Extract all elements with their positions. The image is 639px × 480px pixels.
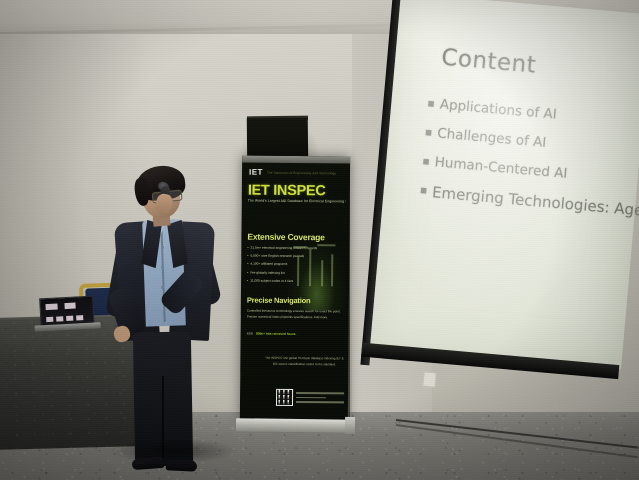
slide-bullet-3-label: Human-Centered AI [434, 154, 568, 182]
shirt-button [161, 246, 164, 249]
list-bullet-icon: ▪ [247, 270, 248, 274]
footer-line [296, 401, 344, 403]
wall-socket [422, 371, 436, 387]
bullet-dot-icon: ▪ [427, 95, 436, 112]
banner-logo: IET The Institution of Engineering and T… [248, 168, 336, 178]
slide-bullet-list: ▪ Applications of AI ▪ Challenges of AI … [418, 95, 639, 233]
footer-line [296, 392, 344, 394]
screen-window [76, 315, 83, 320]
presenter-floor-shadow [108, 438, 238, 464]
artwork-element [331, 254, 333, 286]
qr-code-pattern [277, 390, 292, 405]
banner-stat-value: 800k+ hits retrieved hours [256, 332, 296, 336]
slide-bullet-4-label: Emerging Technologies: Agentic AI [431, 183, 639, 224]
iet-logo-mark: IET [248, 168, 264, 177]
screen-window [45, 303, 57, 310]
banner-title: IET INSPEC [248, 183, 326, 200]
list-bullet-icon: ▪ [247, 246, 248, 250]
banner-list-item: ▪ 21.5m+ electrical engineering research… [247, 246, 319, 251]
projection-screen: Content ▪ Applications of AI ▪ Challenge… [360, 0, 639, 397]
slide-bullet-1-label: Applications of AI [439, 97, 557, 123]
banner-list-item-label: 21.5m+ electrical engineering research r… [251, 246, 318, 251]
list-bullet-icon: ▪ [247, 254, 248, 258]
banner-section-2-heading: Precise Navigation [247, 296, 311, 306]
banner-section-2-paragraph: Controlled thesaurus terminology ensures… [247, 309, 343, 322]
artwork-element [321, 260, 323, 286]
slide-bullet-2: ▪ Challenges of AI [424, 124, 639, 160]
banner-top-rail [242, 156, 350, 164]
laptop [35, 295, 99, 332]
qr-code-icon [276, 389, 293, 406]
bullet-dot-icon: ▪ [419, 182, 428, 199]
banner-list-item: ▪ Pre-globally indexing list [247, 270, 319, 275]
presentation-photo-scene: Content ▪ Applications of AI ▪ Challenge… [0, 0, 639, 480]
bullet-dot-icon: ▪ [424, 124, 433, 141]
list-bullet-icon: ▪ [247, 262, 248, 266]
screen-window [56, 316, 63, 321]
banner-section-1-heading: Extensive Coverage [247, 232, 324, 243]
banner-base-cap [345, 417, 355, 434]
banner-footer-links [296, 392, 344, 406]
screen-window [46, 317, 53, 322]
shirt-button [161, 266, 164, 269]
banner-stat-tag: XXX 800k+ hits retrieved hours [247, 332, 296, 336]
banner-list-item-label: 4,100+ affiliated programs [250, 262, 287, 266]
slide-bullet-3: ▪ Human-Centered AI [422, 153, 639, 189]
shirt-button [161, 286, 164, 289]
list-bullet-icon: ▪ [247, 278, 248, 282]
banner-stat-prefix: XXX [247, 332, 253, 336]
slide-bullet-4: ▪ Emerging Technologies: Agentic AI [419, 182, 639, 220]
screen-window [64, 303, 75, 310]
banner-list-item-label: 5,500+ core English research journals [250, 254, 304, 258]
screen-surface: Content ▪ Applications of AI ▪ Challenge… [370, 0, 639, 369]
slide-bullet-1: ▪ Applications of AI [427, 95, 639, 131]
banner-footnote: The INSPEC one global Thomson database i… [264, 356, 344, 368]
slide-title: Content [440, 45, 537, 79]
banner-subtitle: The World's Largest A&I Database for Ele… [248, 199, 346, 204]
screen-window [66, 316, 73, 321]
banner-list-item: ▪ 4,100+ affiliated programs [247, 262, 319, 267]
banner-section-1-list: ▪ 21.5m+ electrical engineering research… [247, 246, 319, 288]
artwork-element [317, 244, 335, 246]
slide-bullet-2-label: Challenges of AI [437, 125, 547, 150]
bullet-dot-icon: ▪ [422, 153, 431, 170]
presenter [104, 160, 232, 480]
banner-list-item: ▪ 11,000 subject codes at 4 tiers [247, 278, 319, 283]
banner-list-item: ▪ 5,500+ core English research journals [247, 254, 319, 259]
banner-list-item-label: 11,000 subject codes at 4 tiers [250, 278, 293, 282]
banner-base-stand [236, 418, 354, 433]
banner-list-item-label: Pre-globally indexing list [250, 270, 284, 274]
footer-line [296, 397, 326, 399]
roll-up-banner: IET The Institution of Engineering and T… [240, 156, 350, 421]
iet-logo-subtext: The Institution of Engineering and Techn… [267, 170, 336, 175]
